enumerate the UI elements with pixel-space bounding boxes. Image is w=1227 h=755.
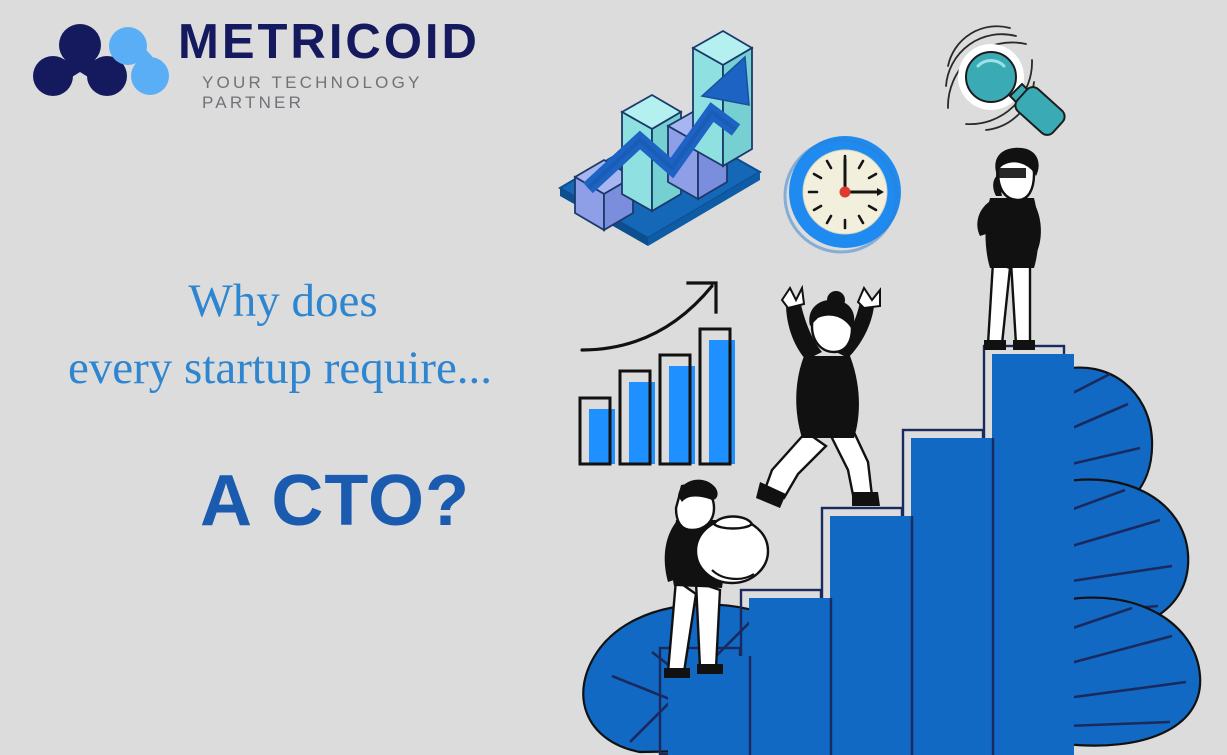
illustration-layer <box>0 0 1227 755</box>
person-looking-ahead-icon <box>977 148 1041 350</box>
poster-canvas: METRICOID YOUR TECHNOLOGY PARTNER Why do… <box>0 0 1227 755</box>
clock-icon <box>785 136 901 252</box>
magnifier-icon <box>946 26 1068 138</box>
person-celebrating-icon <box>756 288 880 508</box>
flat-bar-chart-icon <box>580 283 735 464</box>
isometric-bar-chart-icon <box>560 31 760 246</box>
leaf-cluster-right-icon <box>1060 368 1200 746</box>
